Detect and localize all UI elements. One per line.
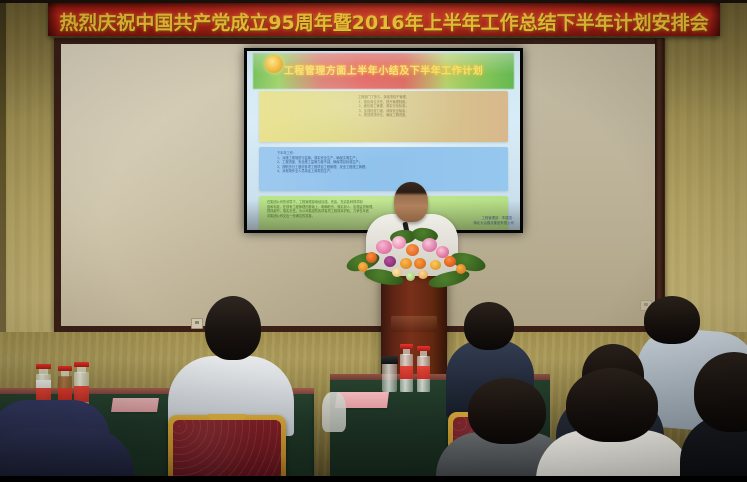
flower-bloom bbox=[406, 272, 415, 281]
flower-bloom bbox=[400, 258, 412, 269]
wall-outlet-left[interactable] bbox=[191, 318, 203, 329]
flower-bloom bbox=[430, 260, 441, 270]
slide-box-summary: 工程部门了多久，亲临事情干管理， 1、强化岗位责任，提升管理制度； 2、细化施工… bbox=[259, 91, 508, 142]
attendee-center-dark-head bbox=[464, 302, 514, 350]
flower-bloom bbox=[414, 258, 426, 269]
projected-slide: 工程管理方面上半年小结及下半年工作计划 工程部门了多久，亲临事情干管理， 1、强… bbox=[247, 51, 520, 230]
thermos-cup[interactable] bbox=[382, 356, 397, 392]
slide-title: 工程管理方面上半年小结及下半年工作计划 bbox=[247, 62, 520, 77]
flower-bloom bbox=[456, 264, 466, 274]
bottle-label bbox=[417, 366, 430, 379]
podium-plaque bbox=[391, 316, 437, 332]
bottle-label bbox=[36, 380, 51, 388]
attendee-left-white-shirt-head bbox=[205, 296, 261, 360]
flower-bloom bbox=[392, 236, 406, 249]
flower-bloom bbox=[444, 256, 456, 267]
banner-right-fade bbox=[710, 0, 720, 36]
attendee-front-grey-head bbox=[468, 378, 546, 444]
slide-box-plan: 下半年工作： 1、对施工现场进行监管，落实安全生产，确保文明生产； 2、工程进度… bbox=[259, 147, 508, 191]
paper-document-left[interactable] bbox=[111, 398, 159, 412]
flower-bloom bbox=[422, 238, 437, 252]
image-top-border bbox=[0, 0, 747, 3]
bottle-label bbox=[400, 366, 413, 379]
attendee-partial-left-shoulder bbox=[322, 392, 346, 432]
celebration-banner: 热烈庆祝中国共产党成立95周年暨2016年上半年工作总结下半年计划安排会 bbox=[48, 0, 720, 36]
flower-bloom bbox=[366, 252, 377, 263]
banner-left-fade bbox=[48, 0, 58, 36]
banquet-chair-left[interactable] bbox=[168, 415, 286, 482]
chair-seat-back bbox=[173, 420, 281, 482]
flower-bloom bbox=[376, 240, 392, 254]
presenter-head bbox=[394, 182, 428, 222]
wall-panel-pillar-right bbox=[655, 38, 664, 332]
attendee-front-far-left-body bbox=[0, 428, 134, 482]
flower-bloom bbox=[358, 262, 368, 272]
floral-arrangement bbox=[344, 228, 486, 290]
water-bottle-center-1[interactable] bbox=[400, 344, 413, 392]
attendee-front-white-head bbox=[566, 368, 658, 442]
water-bottle-center-2[interactable] bbox=[417, 346, 430, 392]
flower-bloom bbox=[392, 268, 402, 277]
image-bottom-border bbox=[0, 476, 747, 482]
thermos-lid bbox=[381, 356, 398, 364]
attendee-far-right-blue-shirt-head bbox=[644, 296, 700, 344]
banner-text: 热烈庆祝中国共产党成立95周年暨2016年上半年工作总结下半年计划安排会 bbox=[48, 8, 720, 35]
slide-line: 4、对现场作业人员持证上岗规范生产。 bbox=[267, 169, 500, 174]
flower-bloom bbox=[406, 244, 419, 256]
slide-line: 4、规范现场作业，确保工期进度。 bbox=[267, 113, 500, 118]
flower-bloom bbox=[384, 256, 396, 267]
conference-room-scene: 工程管理方面上半年小结及下半年工作计划 工程部门了多久，亲临事情干管理， 1、强… bbox=[0, 0, 747, 482]
flower-bloom bbox=[418, 270, 428, 279]
projection-screen: 工程管理方面上半年小结及下半年工作计划 工程部门了多久，亲临事情干管理， 1、强… bbox=[244, 48, 523, 233]
